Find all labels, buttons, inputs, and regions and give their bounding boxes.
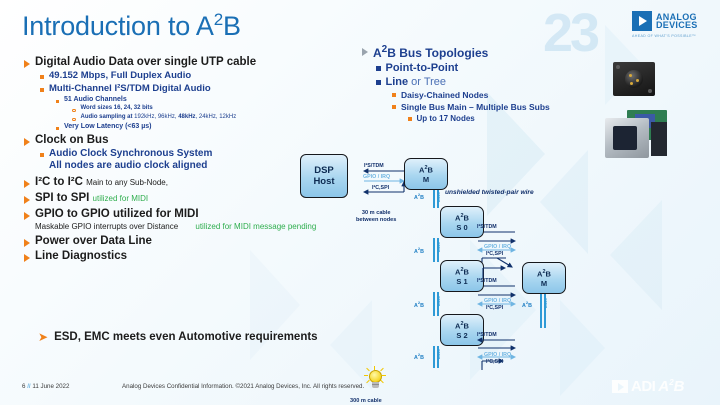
sampling-suffix: , 24kHz, 12kHz: [196, 114, 237, 120]
spi-midi-note: utilized for MIDI: [93, 194, 149, 203]
bullet-label: 49.152 Mbps, Full Duplex Audio: [49, 70, 191, 81]
label-i2s-tdm: I²S/TDM: [364, 163, 384, 169]
xlr-screw: [616, 65, 620, 69]
circle-bullet-icon: [72, 118, 76, 122]
bullet-line-or-tree: Line or Tree: [376, 76, 612, 88]
bullet-multichannel-i2s-tdm: Multi-Channel I²S/TDM Digital Audio: [40, 83, 348, 94]
i2c-note-text: Main to any Sub-Node,: [86, 178, 168, 187]
triangle-bullet-icon: [362, 48, 368, 56]
node-dsp-host: DSP Host: [300, 154, 348, 198]
label-a2b-bus: A2B: [414, 246, 424, 255]
page-title-base: Introduction to A: [22, 11, 214, 41]
brand-tagline: AHEAD OF WHAT'S POSSIBLE™: [632, 34, 696, 38]
label-gpio-irq: GPIO / IRQ: [484, 244, 511, 250]
rj45-jack-connector-photo: [605, 110, 670, 160]
callout-line-1: 30 m cable: [362, 210, 391, 216]
rj45-housing-back: [651, 122, 667, 156]
bullet-digital-audio-data: Digital Audio Data over single UTP cable: [24, 56, 348, 68]
bullet-label: Power over Data Line: [35, 235, 152, 247]
bullet-up-to-17-nodes: Up to 17 Nodes: [408, 114, 612, 123]
footer-divider: [0, 372, 720, 373]
sampling-rates: 192kHz, 96kHz,: [134, 114, 178, 120]
triangle-bullet-icon: [24, 239, 30, 247]
bullet-esd-emc-automotive: ➤ ESD, EMC meets even Automotive require…: [38, 331, 318, 343]
right-bullet-column: A2B Bus Topologies Point-to-Point Line o…: [362, 44, 612, 125]
bullet-label: ESD, EMC meets even Automotive requireme…: [54, 331, 318, 343]
square-bullet-icon: [40, 88, 44, 92]
bullet-label: GPIO to GPIO utilized for MIDI Maskable …: [35, 208, 316, 232]
bullet-audio-sampling: Audio sampling at 192kHz, 96kHz, 48kHz, …: [72, 114, 348, 121]
a2b-topology-diagram: DSP Host A2B M A2B S 0 A2B S 1 A2B S 2 A…: [300, 150, 600, 330]
arrow-bullet-icon: ➤: [38, 332, 48, 342]
xlr-screw: [648, 89, 652, 93]
sampling-prefix: Audio sampling at: [81, 114, 135, 120]
square-bullet-icon: [56, 127, 59, 130]
bullet-label: Daisy-Chained Nodes: [401, 90, 488, 100]
logo-line-2: DEVICES: [656, 21, 698, 30]
circle-bullet-icon: [72, 109, 76, 113]
footer-page-info: 6 // 11 June 2022: [22, 383, 69, 390]
footer-copyright: Analog Devices Confidential Information.…: [122, 383, 364, 390]
watermark-triangle: [610, 200, 662, 310]
line-bold-text: Line: [386, 76, 409, 88]
xlr-pin: [629, 74, 632, 77]
bullet-clock-on-bus: Clock on Bus: [24, 134, 348, 146]
bullet-point-to-point: Point-to-Point: [376, 62, 612, 74]
node-a2b-s0: A2B S 0: [440, 206, 484, 238]
bullet-label: Digital Audio Data over single UTP cable: [35, 56, 256, 68]
bullet-daisy-chained-nodes: Daisy-Chained Nodes: [392, 90, 612, 100]
callout-300m-cable: 300 m cable in system: [350, 398, 382, 405]
clock-sync-line2: All nodes are audio clock aligned: [49, 160, 207, 171]
bullet-mbps-full-duplex: 49.152 Mbps, Full Duplex Audio: [40, 70, 348, 81]
bulb-ray: [364, 375, 368, 376]
label-gpio-irq: GPIO / IRQ: [363, 174, 390, 180]
xlr-barrel: [625, 70, 643, 88]
rj45-jack-opening: [613, 126, 637, 150]
xlr-pin: [636, 79, 639, 82]
analog-devices-wordmark: ANALOG DEVICES: [656, 13, 698, 30]
bulb-ray: [382, 375, 386, 376]
analog-devices-logo: ANALOG DEVICES: [632, 11, 698, 31]
node-line-1: A2B: [419, 164, 433, 175]
page-number: 6: [22, 383, 25, 390]
clock-sync-line1: Audio Clock Synchronous System: [49, 148, 212, 159]
bullet-very-low-latency: Very Low Latency (<63 µs): [56, 123, 348, 130]
node-line-2: Host: [313, 176, 334, 187]
footer-adi-a2b-logo: ADI A2B: [612, 378, 684, 395]
footer-separator: //: [27, 383, 30, 390]
page-title-tail: B: [223, 11, 241, 41]
xlr-pin: [630, 82, 633, 85]
or-tree-text: or Tree: [408, 76, 446, 88]
node-line-2: S 0: [456, 223, 467, 232]
play-triangle-icon: [612, 380, 628, 393]
bullet-single-bus-main: Single Bus Main – Multiple Bus Subs: [392, 102, 612, 112]
square-bullet-icon: [40, 153, 44, 157]
bullet-label: Clock on Bus: [35, 134, 108, 146]
bullet-label: Word sizes 16, 24, 32 bits: [81, 105, 153, 111]
square-bullet-icon: [408, 117, 412, 121]
play-triangle-icon: [632, 11, 652, 31]
bullet-label: I²C to I²C Main to any Sub-Node,: [35, 176, 168, 188]
footer-logo-a2b: A2B: [658, 378, 684, 395]
callout-line-1: 300 m cable: [350, 398, 382, 404]
triangle-bullet-icon: [24, 180, 30, 188]
square-bullet-icon: [40, 75, 44, 79]
topologies-base: A: [373, 46, 382, 60]
bullet-label: Audio Clock Synchronous SystemAll nodes …: [49, 148, 212, 172]
footer-logo-adi: ADI: [631, 378, 655, 395]
bullet-label: Line Diagnostics: [35, 250, 127, 262]
triangle-bullet-icon: [24, 138, 30, 146]
bullet-label: Multi-Channel I²S/TDM Digital Audio: [49, 83, 211, 94]
bulb-ray: [380, 368, 384, 372]
bullet-label: Very Low Latency (<63 µs): [64, 123, 152, 130]
label-cable-type: unshielded twisted-pair wire: [445, 189, 534, 196]
square-bullet-icon: [376, 80, 381, 85]
bulb-base: [372, 382, 379, 388]
footer-logo-a2b-tail: B: [674, 378, 685, 395]
square-bullet-icon: [56, 100, 59, 103]
triangle-bullet-icon: [24, 212, 30, 220]
square-bullet-icon: [392, 105, 396, 109]
triangle-bullet-icon: [24, 60, 30, 68]
node-a2b-main: A2B M: [404, 158, 448, 190]
callout-30m-cable: 30 m cable between nodes: [356, 210, 396, 224]
impedance-label: 100Ω: [436, 192, 441, 202]
footer-date: 11 June 2022: [32, 383, 69, 390]
node-line-1: A2B: [455, 212, 469, 223]
impedance-label: 100Ω: [436, 242, 441, 252]
callout-line-2: between nodes: [356, 217, 396, 223]
slide-canvas: 23 Introduction to A2B ANALOG DEVICES AH…: [0, 0, 720, 405]
square-bullet-icon: [376, 66, 381, 71]
watermark-triangle: [250, 250, 300, 360]
page-title-superscript: 2: [214, 10, 223, 29]
bullet-label: Point-to-Point: [386, 62, 459, 74]
node-line-2: M: [423, 175, 429, 184]
bullet-label: 51 Audio Channels: [64, 96, 127, 103]
bulb-ray: [366, 368, 370, 372]
label-i2c-spi: I²C,SPI: [372, 185, 389, 191]
gpio-midi-note: utilized for MIDI message pending: [195, 222, 316, 231]
topologies-tail: B Bus Topologies: [387, 46, 488, 60]
triangle-bullet-icon: [24, 254, 30, 262]
bullet-label: A2B Bus Topologies: [373, 44, 488, 60]
i2c-main-text: I²C to I²C: [35, 176, 83, 188]
label-i2c-spi: I²C,SPI: [486, 251, 503, 257]
spi-main-text: SPI to SPI: [35, 192, 89, 204]
bullet-word-sizes: Word sizes 16, 24, 32 bits: [72, 105, 348, 112]
bullet-label: Single Bus Main – Multiple Bus Subs: [401, 102, 550, 112]
bullet-a2b-bus-topologies: A2B Bus Topologies: [362, 44, 612, 60]
bullet-label: SPI to SPI utilized for MIDI: [35, 192, 148, 204]
bullet-label: Line or Tree: [386, 76, 447, 88]
gpio-main-text: GPIO to GPIO utilized for MIDI: [35, 208, 199, 220]
square-bullet-icon: [392, 93, 396, 97]
bullet-51-audio-channels: 51 Audio Channels: [56, 96, 348, 103]
label-i2s-tdm: I²S/TDM: [477, 224, 497, 230]
page-title: Introduction to A2B: [22, 10, 241, 42]
sampling-rate-bold: 48kHz: [178, 114, 195, 120]
node-line-1: DSP: [314, 165, 334, 176]
gpio-note-text: Maskable GPIO interrupts over Distance: [35, 222, 178, 231]
label-a2b-bus: A2B: [414, 192, 424, 201]
bullet-label: Up to 17 Nodes: [417, 114, 475, 123]
triangle-bullet-icon: [24, 196, 30, 204]
xlr-panel-connector-photo: [613, 62, 655, 96]
footer-logo-a2b-base: A: [658, 378, 669, 395]
bullet-label: Audio sampling at 192kHz, 96kHz, 48kHz, …: [81, 114, 237, 120]
left-bullet-column: Digital Audio Data over single UTP cable…: [18, 56, 348, 264]
